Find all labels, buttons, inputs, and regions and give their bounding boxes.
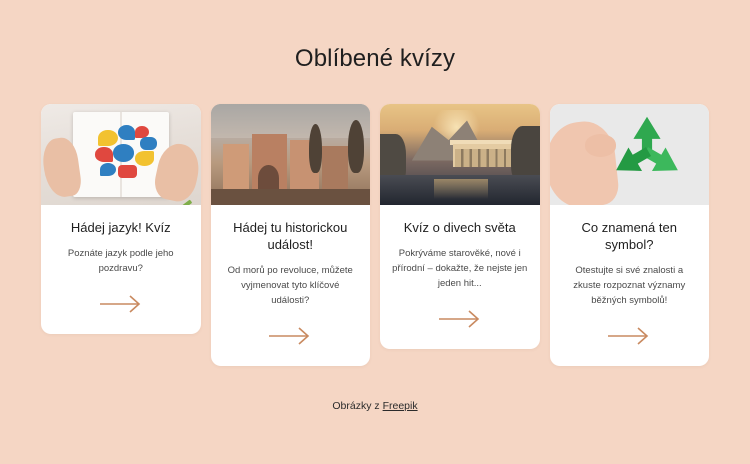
arrow-right-icon: [98, 294, 144, 314]
card-image-rome: roman-forum-ancient-ruins: [211, 104, 371, 205]
card-image-notebook: notebook-with-colorful-greeting-speech-b…: [41, 104, 201, 205]
card-arrow-link[interactable]: [606, 326, 652, 346]
card-arrow-link[interactable]: [267, 326, 313, 346]
card-body: Hádej tu historickou událost! Od morů po…: [211, 205, 371, 366]
quiz-card[interactable]: roman-forum-ancient-ruins Hádej tu histo…: [211, 104, 371, 366]
quiz-card[interactable]: ancient-temple-at-sunset-by-water Kvíz o…: [380, 104, 540, 349]
card-image-recycle: hand-holding-green-recycling-symbol: [550, 104, 710, 205]
card-title: Hádej tu historickou událost!: [223, 219, 359, 253]
image-credit-prefix: Obrázky z: [332, 400, 382, 412]
quiz-card[interactable]: hand-holding-green-recycling-symbol Co z…: [550, 104, 710, 366]
arrow-right-icon: [606, 326, 652, 346]
arrow-right-icon: [267, 326, 313, 346]
card-body: Kvíz o divech světa Pokrýváme starověké,…: [380, 205, 540, 349]
card-description: Poznáte jazyk podle jeho pozdravu?: [53, 246, 189, 276]
freepik-link[interactable]: Freepik: [383, 400, 418, 412]
quiz-card-grid: notebook-with-colorful-greeting-speech-b…: [41, 104, 709, 366]
image-credit: Obrázky z Freepik: [0, 399, 750, 413]
quiz-card[interactable]: notebook-with-colorful-greeting-speech-b…: [41, 104, 201, 334]
card-body: Hádej jazyk! Kvíz Poznáte jazyk podle je…: [41, 205, 201, 334]
card-image-temple: ancient-temple-at-sunset-by-water: [380, 104, 540, 205]
arrow-right-icon: [437, 309, 483, 329]
card-arrow-link[interactable]: [437, 309, 483, 329]
card-title: Kvíz o divech světa: [392, 219, 528, 236]
card-title: Hádej jazyk! Kvíz: [53, 219, 189, 236]
card-arrow-link[interactable]: [98, 294, 144, 314]
card-title: Co znamená ten symbol?: [562, 219, 698, 253]
card-description: Otestujte si své znalosti a zkuste rozpo…: [562, 263, 698, 308]
card-description: Od morů po revoluce, můžete vyjmenovat t…: [223, 263, 359, 308]
page-title: Oblíbené kvízy: [0, 44, 750, 74]
page-root: Oblíbené kvízy notebook-with-colorful-gr…: [0, 0, 750, 464]
card-description: Pokrýváme starověké, nové i přírodní – d…: [392, 246, 528, 291]
card-body: Co znamená ten symbol? Otestujte si své …: [550, 205, 710, 366]
